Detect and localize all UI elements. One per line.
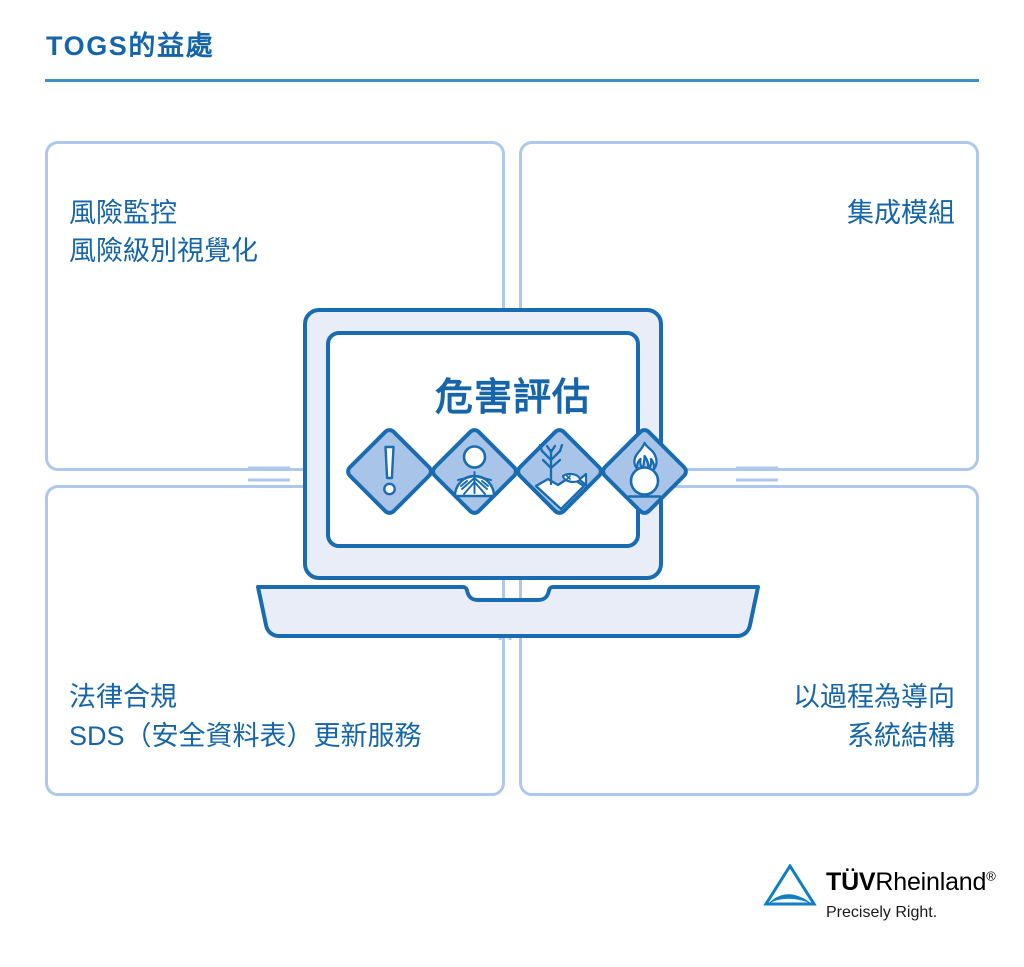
tuv-brand-bold: TÜV: [826, 868, 875, 896]
quadrant-line: 以過程為導向: [793, 678, 955, 716]
laptop-base: [258, 587, 758, 636]
quadrant-risk-monitoring-text: 風險監控 風險級別視覺化: [69, 194, 258, 271]
tuv-brand-light: Rheinland: [875, 868, 986, 896]
side-rule-left: [248, 468, 290, 480]
quadrant-line: 系統結構: [793, 717, 955, 755]
title-divider-rule: [45, 79, 979, 82]
quadrant-line: 集成模組: [847, 194, 955, 232]
page-title: TOGS的益處: [46, 24, 214, 63]
quadrant-legal-compliance-text: 法律合規 SDS（安全資料表）更新服務: [69, 678, 422, 755]
quadrant-process-oriented-text: 以過程為導向 系統結構: [793, 678, 955, 755]
quadrant-line: 風險監控: [69, 194, 258, 232]
quadrant-line: 風險級別視覺化: [69, 232, 258, 270]
laptop-stand-ticks: [500, 638, 510, 640]
tuv-rheinland-logo: TÜVRheinland® Precisely Right.: [762, 862, 998, 932]
quadrant-integrated-modules-text: 集成模組: [847, 194, 955, 232]
laptop-screen-title: 危害評估: [248, 366, 778, 421]
side-rule-right: [736, 468, 778, 480]
laptop-illustration: 危害評估: [248, 300, 778, 640]
laptop-graphic: [248, 300, 778, 640]
registered-mark: ®: [986, 869, 995, 884]
tuv-triangle-mark-icon: [762, 864, 818, 908]
tuv-tagline: Precisely Right.: [826, 904, 937, 922]
quadrant-line: SDS（安全資料表）更新服務: [69, 717, 422, 755]
quadrant-line: 法律合規: [69, 678, 422, 716]
tuv-wordmark: TÜVRheinland®: [826, 868, 996, 897]
